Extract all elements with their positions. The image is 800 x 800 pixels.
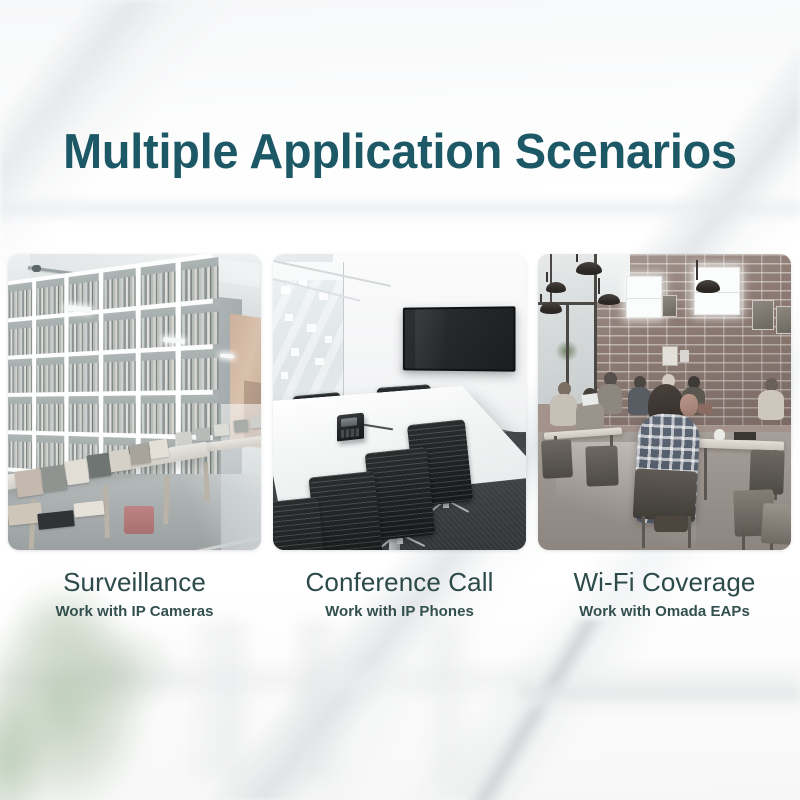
- cafe-person: [550, 394, 577, 426]
- scenario-card-list: Surveillance Work with IP Cameras: [8, 254, 792, 620]
- surveillance-title: Surveillance: [8, 568, 261, 596]
- cafe-chair: [633, 468, 698, 521]
- scenario-card-wifi-coverage[interactable]: Wi-Fi Coverage Work with Omada EAPs: [538, 254, 791, 620]
- cafe-wall-art: [752, 300, 774, 330]
- conference-call-photo: [273, 254, 526, 550]
- page-title: Multiple Application Scenarios: [18, 124, 782, 180]
- library-stool: [124, 506, 154, 534]
- conference-phone-screen: [341, 417, 357, 427]
- conference-tv-glare: [415, 309, 445, 369]
- cafe-tray: [734, 432, 756, 440]
- conference-phone-keypad: [341, 428, 359, 438]
- wifi-coverage-title: Wi-Fi Coverage: [538, 568, 791, 596]
- cafe-wall-art: [776, 306, 791, 334]
- background-horizontal-band-top: [0, 196, 800, 222]
- cafe-stool: [761, 503, 791, 545]
- cafe-laptop: [581, 393, 598, 406]
- conference-wall-mounted-tv: [403, 306, 516, 371]
- cafe-chair: [541, 439, 573, 479]
- cafe-person: [758, 390, 784, 420]
- conference-call-subtitle: Work with IP Phones: [273, 603, 526, 620]
- scenario-card-surveillance[interactable]: Surveillance Work with IP Cameras: [8, 254, 261, 620]
- conference-call-title: Conference Call: [273, 568, 526, 596]
- cafe-foreground-person-face: [680, 394, 698, 416]
- cafe-device: [698, 403, 713, 414]
- cafe-wall-notice: [662, 346, 678, 366]
- library-spotlight-icon: [32, 265, 41, 272]
- cafe-chair: [749, 449, 785, 494]
- cafe-foreground-person-leg: [654, 516, 688, 532]
- background-plant-foliage: [0, 600, 190, 800]
- cafe-wall-notice: [680, 350, 689, 362]
- conference-call-caption: Conference Call Work with IP Phones: [273, 568, 526, 620]
- application-scenarios-page: Multiple Application Scenarios: [0, 0, 800, 800]
- wifi-coverage-photo: [538, 254, 791, 550]
- surveillance-photo: [8, 254, 261, 550]
- surveillance-caption: Surveillance Work with IP Cameras: [8, 568, 261, 620]
- wifi-coverage-caption: Wi-Fi Coverage Work with Omada EAPs: [538, 568, 791, 620]
- cafe-chair: [585, 445, 618, 486]
- surveillance-subtitle: Work with IP Cameras: [8, 603, 261, 620]
- cafe-wall-art: [662, 295, 677, 317]
- cafe-cup: [714, 429, 725, 440]
- cafe-window: [626, 276, 662, 318]
- conference-ip-phone: [337, 413, 364, 442]
- background-blurred-shelf: [520, 680, 800, 714]
- scenario-card-conference-call[interactable]: Conference Call Work with IP Phones: [273, 254, 526, 620]
- wifi-coverage-subtitle: Work with Omada EAPs: [538, 603, 791, 620]
